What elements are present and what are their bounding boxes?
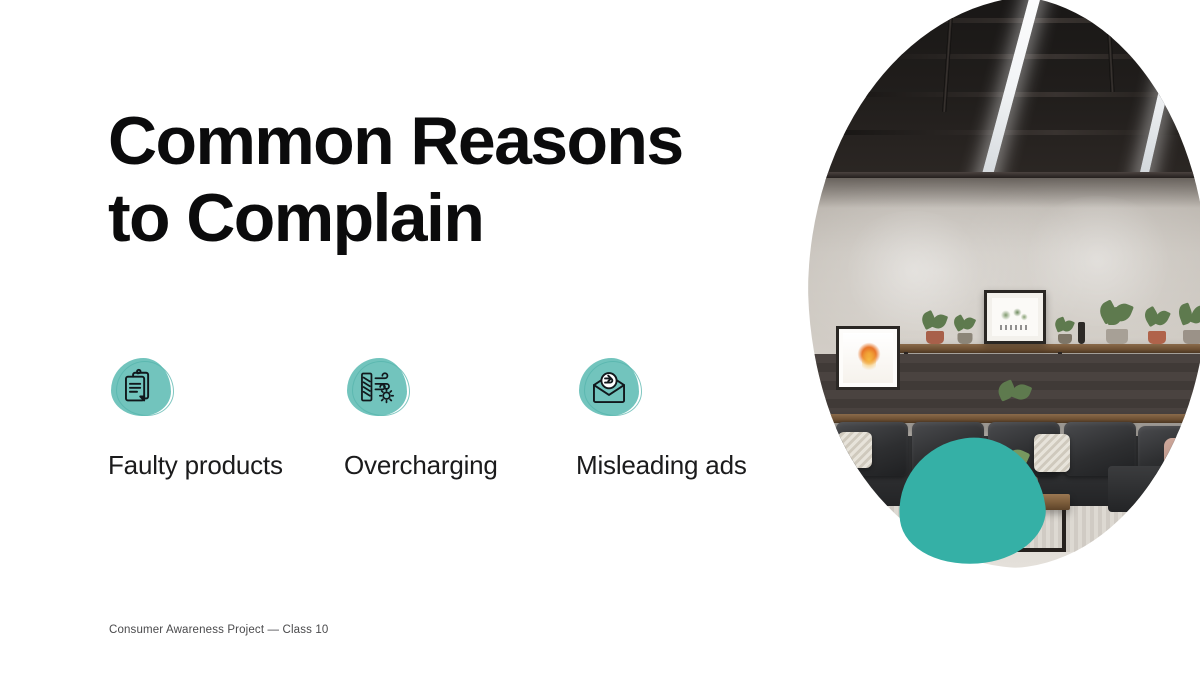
slide-canvas: Common Reasonsto Complain Faulty product… (0, 0, 1200, 675)
clipboard-documents-icon (122, 368, 160, 406)
title-line-1: Common Reasons (108, 103, 683, 179)
throw-pillow (838, 432, 872, 468)
reason-label: Misleading ads (576, 450, 812, 481)
potted-plant (1096, 302, 1138, 344)
potted-plant (1176, 304, 1200, 344)
page-title: Common Reasonsto Complain (108, 103, 768, 257)
throw-pillow (1164, 438, 1200, 472)
potted-plant (920, 312, 950, 344)
icon-container (576, 358, 646, 420)
ceiling-beam (808, 54, 1200, 59)
icon-container (108, 358, 178, 420)
potted-plant (1142, 308, 1172, 344)
icon-container (344, 358, 414, 420)
table-leg (1062, 510, 1066, 552)
envelope-forward-icon (590, 368, 628, 406)
reason-label: Overcharging (344, 450, 576, 481)
potted-plant (1052, 318, 1078, 344)
framed-flower-art (836, 326, 900, 390)
art-artwork (992, 298, 1038, 336)
title-line-2: to Complain (108, 180, 483, 256)
reasons-list: Faulty products Over (108, 358, 812, 481)
wall-shadow (808, 178, 1200, 208)
reason-item-overcharging: Overcharging (344, 358, 576, 481)
potted-plant (952, 316, 978, 344)
upper-shelf (868, 344, 1200, 353)
reason-label: Faulty products (108, 450, 344, 481)
potted-plant (994, 382, 1038, 416)
flower-artwork (843, 333, 893, 383)
reason-item-faulty-products: Faulty products (108, 358, 344, 481)
air-filter-gear-icon (358, 368, 396, 406)
footer-caption: Consumer Awareness Project — Class 10 (109, 624, 328, 636)
sofa-chaise (1108, 466, 1200, 512)
framed-art-print (984, 290, 1046, 344)
shelf-object (1078, 322, 1085, 344)
wall-light-spot (838, 211, 988, 331)
ceiling-beam (808, 18, 1200, 23)
reason-item-misleading-ads: Misleading ads (576, 358, 812, 481)
